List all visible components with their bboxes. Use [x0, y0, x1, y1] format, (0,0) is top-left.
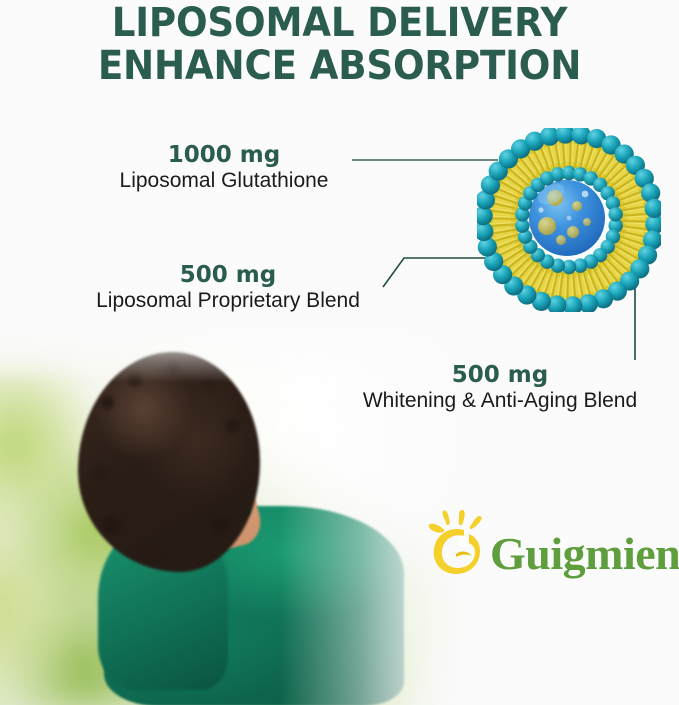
callout-whitening-anti-aging-blend: 500 mg Whitening & Anti-Aging Blend: [332, 362, 668, 413]
sun-g-mark-icon: [428, 510, 492, 586]
callout-1-label: Liposomal Glutathione: [98, 168, 350, 193]
callout-3-label: Whitening & Anti-Aging Blend: [332, 388, 668, 413]
logo-g-leaf: [456, 552, 472, 557]
callout-3-amount: 500 mg: [332, 362, 668, 388]
headline-line-2: ENHANCE ABSORPTION: [24, 45, 655, 88]
page-title: LIPOSOMAL DELIVERY ENHANCE ABSORPTION: [24, 2, 655, 88]
callout-2-amount: 500 mg: [72, 262, 384, 288]
brand-name: Guigmiens: [490, 528, 679, 580]
liposome-illustration: [477, 128, 661, 312]
callout-liposomal-glutathione: 1000 mg Liposomal Glutathione: [98, 142, 350, 193]
promo-banner: LIPOSOMAL DELIVERY ENHANCE ABSORPTION: [0, 0, 679, 705]
callout-1-amount: 1000 mg: [98, 142, 350, 168]
brand-logo[interactable]: Guigmiens: [428, 508, 676, 592]
logo-g-eye: [458, 536, 469, 547]
headline-line-1: LIPOSOMAL DELIVERY: [112, 0, 568, 46]
logo-g-glyph: [434, 529, 480, 574]
callout-2-label: Liposomal Proprietary Blend: [72, 288, 384, 313]
callout-liposomal-proprietary-blend: 500 mg Liposomal Proprietary Blend: [72, 262, 384, 313]
